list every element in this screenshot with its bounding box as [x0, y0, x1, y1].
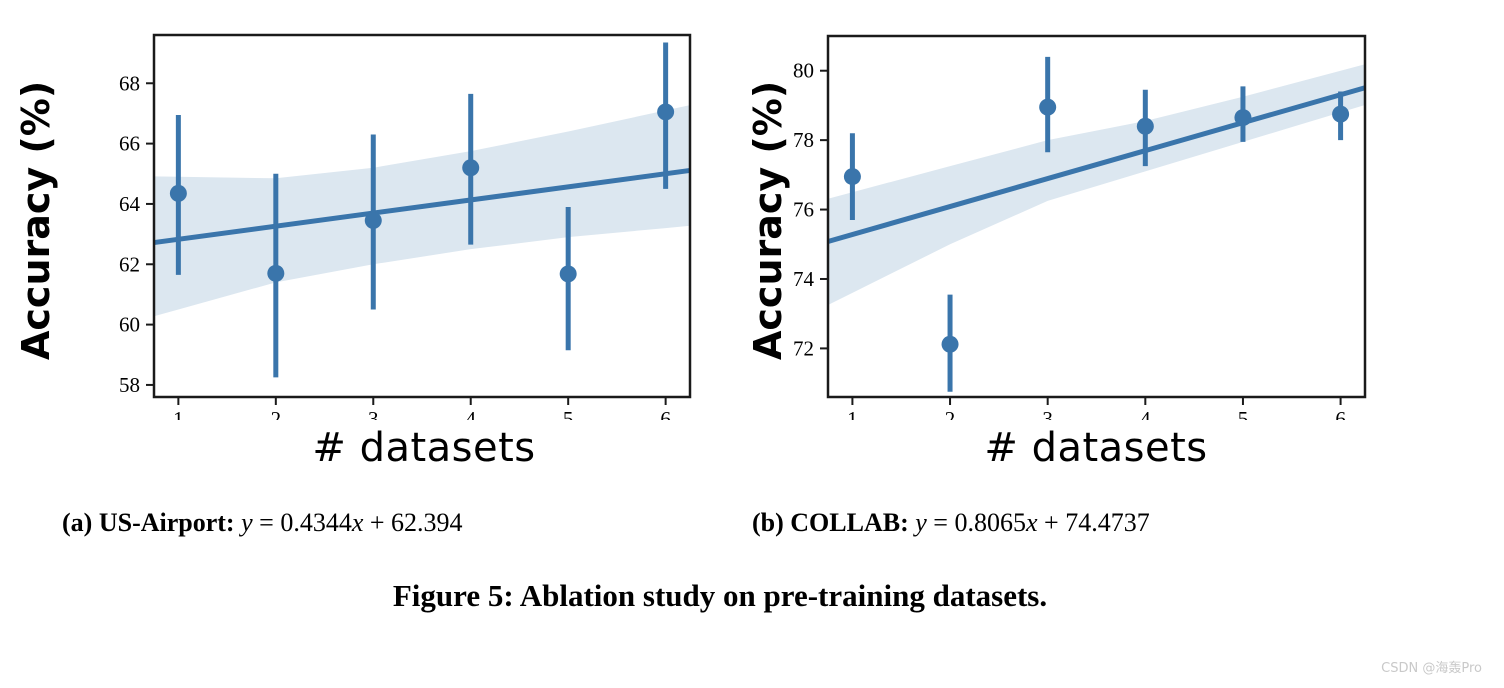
subcaption-b-slope: 0.8065 [954, 508, 1026, 537]
y-axis-label-a: Accuracy (%) [14, 81, 58, 360]
subcaption-a-plus: + [363, 508, 391, 537]
data-point-marker [942, 336, 959, 353]
x-axis-tick-label: 6 [660, 407, 671, 420]
subcaption-b-plus: + [1038, 508, 1066, 537]
confidence-band [154, 105, 690, 316]
figure-caption: Figure 5: Ablation study on pre-training… [0, 578, 1440, 614]
chart-panel-us-airport: Accuracy (%) 123456586062646668 # datase… [0, 0, 730, 500]
subcaption-a-tag: (a) [62, 508, 92, 537]
x-axis-tick-label: 2 [945, 407, 956, 420]
x-axis-tick-label: 4 [1140, 407, 1151, 420]
subcaption-a-x: x [352, 508, 364, 537]
x-axis-tick-label: 6 [1335, 407, 1346, 420]
subcaption-a-slope: 0.4344 [280, 508, 352, 537]
data-point-marker [1234, 109, 1251, 126]
y-axis-tick-label: 60 [119, 313, 140, 337]
data-point-marker [657, 103, 674, 120]
y-axis-tick-label: 72 [793, 336, 814, 360]
figure-container: Accuracy (%) 123456586062646668 # datase… [0, 0, 1504, 688]
x-axis-tick-label: 1 [847, 407, 858, 420]
subcaption-b-x: x [1026, 508, 1038, 537]
x-axis-tick-label: 3 [1042, 407, 1053, 420]
x-axis-label-a: # datasets [254, 425, 594, 471]
subcaption-b-equals: = [927, 508, 955, 537]
x-axis-label-b: # datasets [926, 425, 1266, 471]
data-point-marker [1332, 106, 1349, 123]
y-axis-tick-label: 64 [119, 192, 141, 216]
y-axis-tick-label: 78 [793, 128, 814, 152]
y-axis-tick-label: 76 [793, 198, 814, 222]
subcaption-b-tag: (b) [752, 508, 784, 537]
data-point-marker [1039, 99, 1056, 116]
y-axis-tick-label: 68 [119, 71, 140, 95]
y-axis-tick-label: 58 [119, 373, 140, 397]
data-point-marker [560, 265, 577, 282]
x-axis-tick-label: 5 [1238, 407, 1249, 420]
subcaption-us-airport: (a) US-Airport: y = 0.4344x + 62.394 [62, 508, 463, 538]
data-point-marker [844, 168, 861, 185]
plot-area-us-airport: 123456586062646668 [0, 0, 730, 420]
subcaption-b-intercept: 74.4737 [1065, 508, 1150, 537]
subcaption-a-name: US-Airport: [99, 508, 235, 537]
y-axis-tick-label: 74 [793, 267, 815, 291]
x-axis-tick-label: 2 [271, 407, 282, 420]
y-axis-tick-label: 62 [119, 252, 140, 276]
subcaption-a-y: y [241, 508, 253, 537]
x-axis-tick-label: 5 [563, 407, 574, 420]
plot-area-collab: 1234567274767880 [730, 0, 1430, 420]
x-axis-tick-label: 4 [465, 407, 476, 420]
confidence-band [828, 64, 1365, 305]
x-axis-tick-label: 1 [173, 407, 184, 420]
subcaption-b-y: y [915, 508, 927, 537]
subcaption-collab: (b) COLLAB: y = 0.8065x + 74.4737 [752, 508, 1150, 538]
subcaption-a-intercept: 62.394 [391, 508, 463, 537]
subcaption-a-equals: = [253, 508, 281, 537]
data-point-marker [170, 185, 187, 202]
watermark: CSDN @海轰Pro [1381, 657, 1482, 676]
regression-line [828, 88, 1365, 242]
data-point-marker [462, 159, 479, 176]
y-axis-label-b: Accuracy (%) [746, 81, 790, 360]
y-axis-tick-label: 66 [119, 132, 140, 156]
chart-panel-collab: Accuracy (%) 1234567274767880 # datasets [730, 0, 1430, 500]
x-axis-tick-label: 3 [368, 407, 379, 420]
data-point-marker [267, 265, 284, 282]
data-point-marker [365, 212, 382, 229]
y-axis-tick-label: 80 [793, 59, 814, 83]
data-point-marker [1137, 118, 1154, 135]
subcaption-b-name: COLLAB: [790, 508, 908, 537]
